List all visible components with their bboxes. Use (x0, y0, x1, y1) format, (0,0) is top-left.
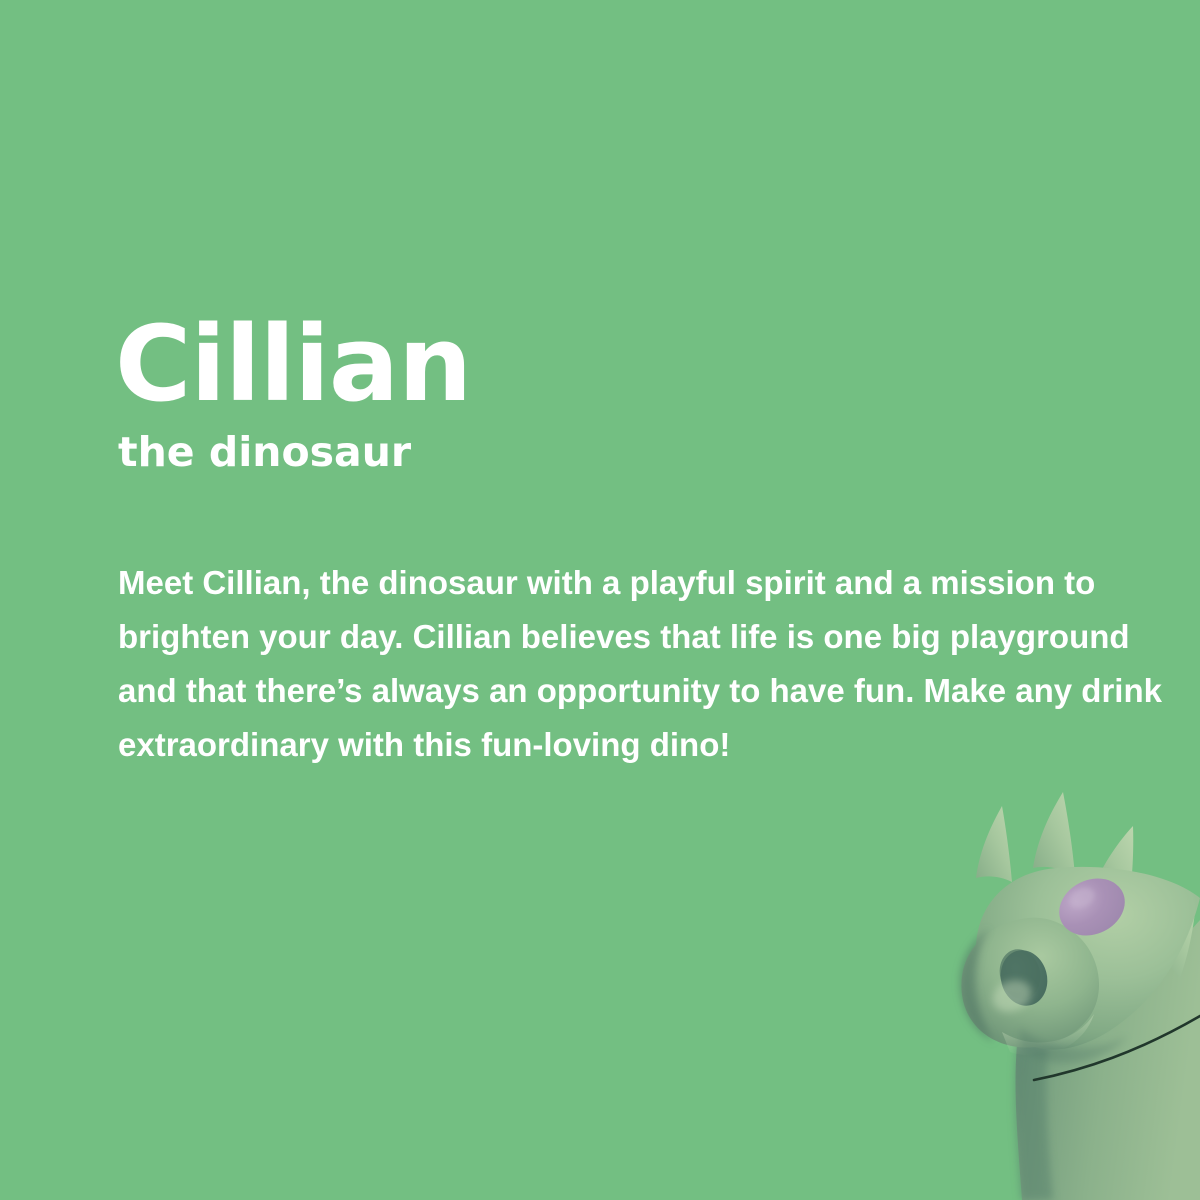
dinosaur-head (976, 867, 1200, 1050)
dinosaur-nostril (988, 945, 1053, 1017)
dinosaur-snout (960, 918, 1099, 1056)
dinosaur-spikes (976, 792, 1196, 978)
dinosaur-neck (1015, 920, 1200, 1200)
dinosaur-contact-shadow (1020, 1028, 1128, 1063)
character-role: the dinosaur (118, 432, 411, 473)
dinosaur-eye (1050, 868, 1135, 946)
character-description: Meet Cillian, the dinosaur with a playfu… (118, 556, 1180, 772)
dinosaur-neck-seam (1034, 1016, 1200, 1080)
character-name: Cillian (115, 312, 471, 416)
dinosaur-illustration (870, 770, 1200, 1200)
character-product-card: Cillian the dinosaur Meet Cillian, the d… (0, 0, 1200, 1200)
